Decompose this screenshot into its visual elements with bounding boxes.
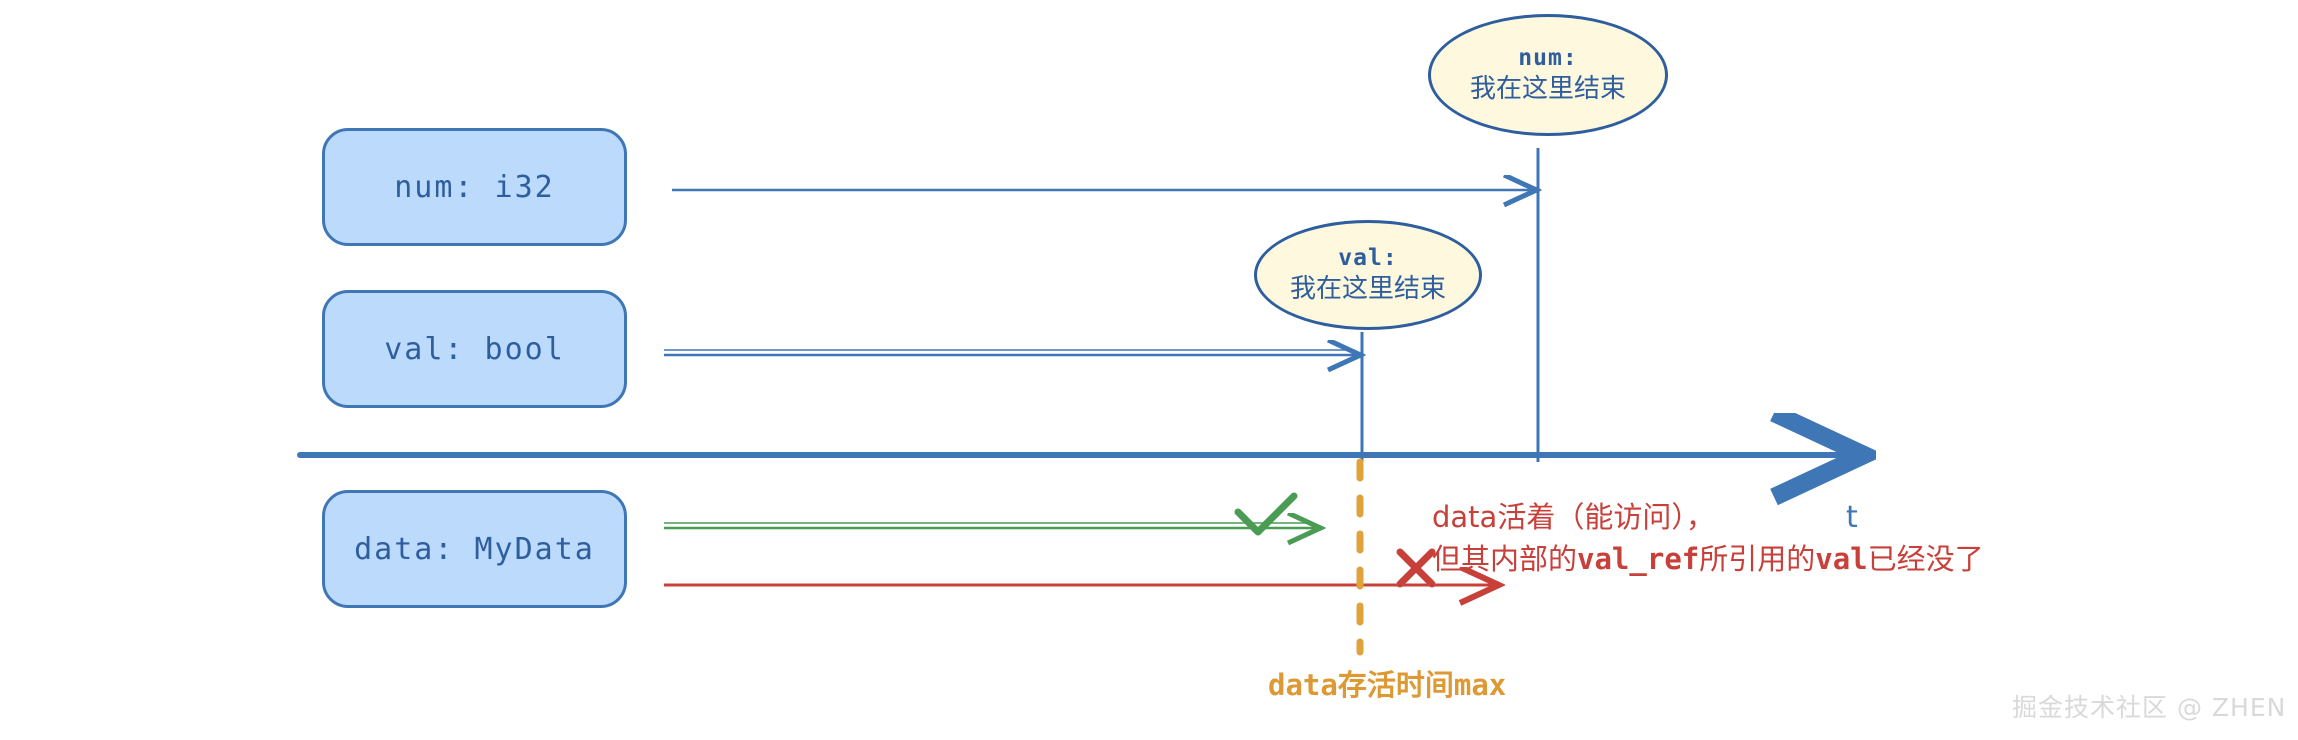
annot-red-line-2: 但其内部的val_ref所引用的val已经没了	[1432, 538, 1984, 580]
callout-num-text: 我在这里结束	[1470, 73, 1626, 106]
var-box-data[interactable]: data: MyData	[322, 490, 627, 608]
check-mark-icon	[1238, 496, 1294, 532]
callout-num-code: num:	[1518, 44, 1577, 73]
data-max-lifetime-label: data存活时间max	[1268, 662, 1506, 704]
var-box-data-label: data: MyData	[354, 532, 595, 567]
var-box-val-label: val: bool	[384, 332, 565, 367]
annot-red-prefix: 但其内部的	[1432, 542, 1577, 576]
var-box-num[interactable]: num: i32	[322, 128, 627, 246]
annot-red-valref: val_ref	[1577, 542, 1699, 576]
diagram-canvas: num: i32 val: bool data: MyData num: 我在这…	[0, 0, 2298, 740]
callout-num-end[interactable]: num: 我在这里结束	[1428, 14, 1668, 136]
val-ref-dangling-annotation: data活着（能访问）， 但其内部的val_ref所引用的val已经没了	[1432, 496, 1984, 580]
var-box-val[interactable]: val: bool	[322, 290, 627, 408]
annot-red-suffix: 已经没了	[1868, 542, 1984, 576]
annot-red-val: val	[1815, 542, 1867, 576]
callout-val-code: val:	[1338, 244, 1397, 273]
annot-red-middle: 所引用的	[1699, 542, 1815, 576]
time-axis-label: t	[1846, 500, 1858, 535]
annot-orange-data: data	[1268, 668, 1338, 702]
cross-mark-icon	[1400, 552, 1432, 584]
watermark: 掘金技术社区 @ ZHEN	[2012, 688, 2286, 724]
annot-orange-max: max	[1454, 668, 1506, 702]
var-box-num-label: num: i32	[394, 170, 555, 205]
annot-orange-text: 存活时间	[1338, 668, 1454, 702]
callout-val-end[interactable]: val: 我在这里结束	[1254, 220, 1482, 330]
annot-red-line-1: data活着（能访问），	[1432, 496, 1984, 538]
callout-val-text: 我在这里结束	[1290, 273, 1446, 306]
